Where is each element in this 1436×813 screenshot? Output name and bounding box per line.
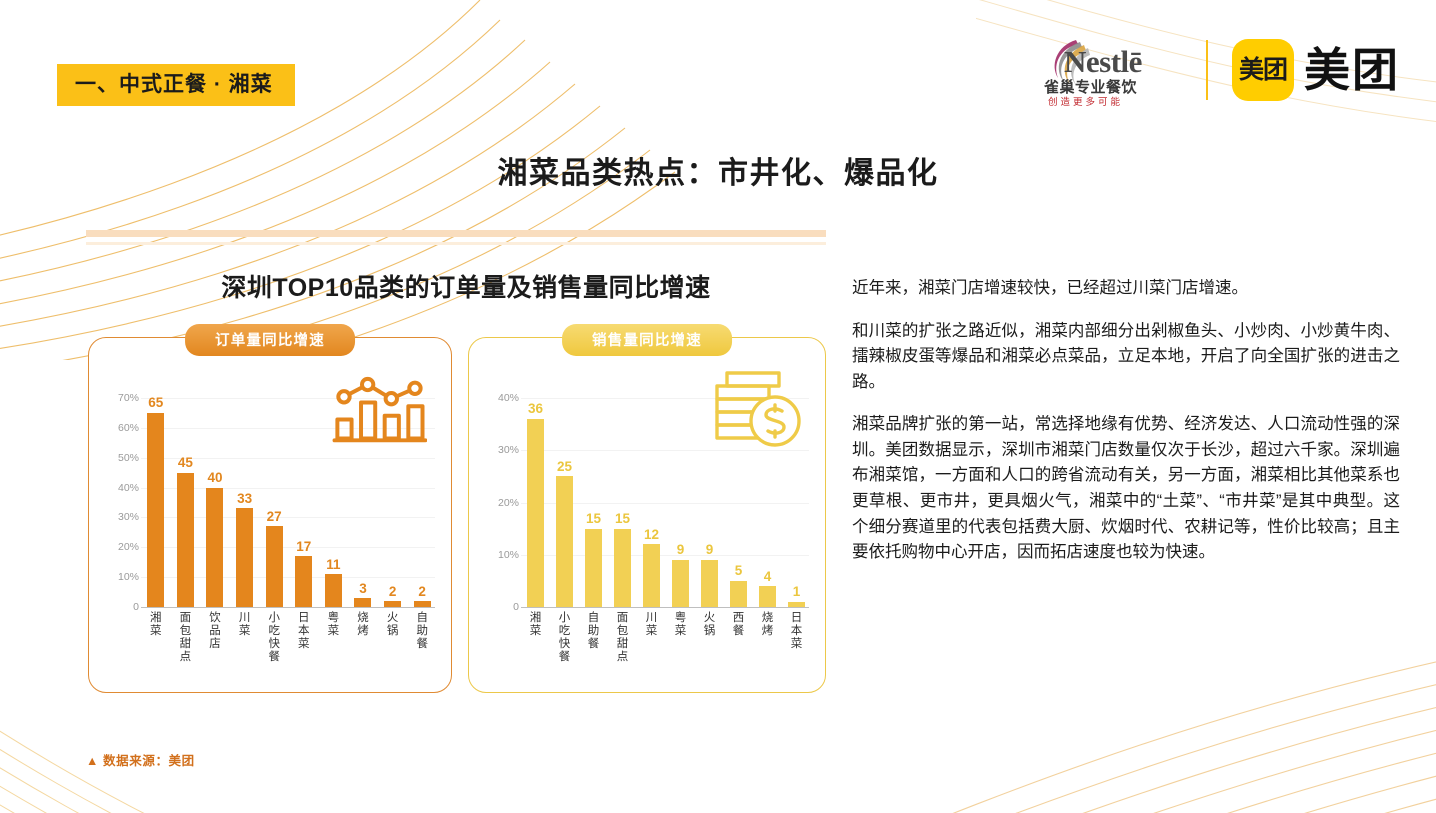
source-note: ▲ 数据来源：美团	[86, 750, 195, 769]
bar-rect	[354, 598, 371, 607]
y-axis-tick-label: 20%	[498, 497, 519, 509]
bar-column: 40饮品店	[200, 471, 230, 607]
bar-column: 65湘菜	[141, 396, 171, 607]
bar-value-label: 9	[677, 543, 685, 557]
bar-column: 33川菜	[230, 492, 260, 607]
x-axis-category-label: 自助餐	[415, 612, 430, 651]
x-axis-category-label: 小吃快餐	[557, 612, 572, 664]
bar-column: 3烧烤	[348, 582, 378, 607]
bar-column: 4烧烤	[753, 570, 782, 607]
bar-value-label: 9	[706, 543, 714, 557]
slide-root: 一、中式正餐 · 湘菜 Nestlē 雀巢专业餐饮 创造更多可能 美团 美团 湘…	[0, 0, 1436, 813]
bar-column: 27小吃快餐	[259, 510, 289, 607]
bar-value-label: 15	[586, 512, 601, 526]
bar-value-label: 65	[148, 396, 163, 410]
page-title: 湘菜品类热点：市井化、爆品化	[0, 148, 1436, 192]
x-axis-category-label: 自助餐	[586, 612, 601, 651]
bar-rect	[614, 529, 631, 607]
bar-column: 15自助餐	[579, 512, 608, 607]
logo-divider	[1206, 40, 1208, 100]
bar-rect	[527, 419, 544, 607]
bar-rect	[147, 413, 164, 607]
bar-column: 12川菜	[637, 528, 666, 607]
coins-dollar-icon	[713, 368, 805, 450]
bar-rect	[266, 526, 283, 607]
x-axis-category-label: 川菜	[237, 612, 252, 638]
bar-value-label: 25	[557, 460, 572, 474]
bar-value-label: 40	[207, 471, 222, 485]
nestle-slogan: 创造更多可能	[1048, 94, 1123, 108]
rule-thin	[86, 242, 826, 245]
bar-rect	[759, 586, 776, 607]
bar-rect	[730, 581, 747, 607]
body-text-column: 近年来，湘菜门店增速较快，已经超过川菜门店增速。 和川菜的扩张之路近似，湘菜内部…	[852, 276, 1400, 566]
bar-column: 25小吃快餐	[550, 460, 579, 607]
paragraph-3: 湘菜品牌扩张的第一站，常选择地缘有优势、经济发达、人口流动性强的深圳。美团数据显…	[852, 412, 1400, 565]
meituan-badge: 美团	[1232, 39, 1294, 101]
y-axis-tick-label: 50%	[118, 452, 139, 464]
y-axis-tick-label: 40%	[118, 482, 139, 494]
bar-value-label: 27	[267, 510, 282, 524]
x-axis-category-label: 日本菜	[789, 612, 804, 651]
bar-value-label: 12	[644, 528, 659, 542]
bar-rect	[701, 560, 718, 607]
bar-value-label: 45	[178, 456, 193, 470]
bar-value-label: 11	[326, 558, 340, 572]
x-axis-category-label: 粤菜	[326, 612, 341, 638]
rule-thick	[86, 230, 826, 237]
meituan-wordmark: 美团	[1304, 47, 1400, 93]
y-axis-tick-label: 20%	[118, 541, 139, 553]
bar-rect	[236, 508, 253, 607]
bar-column: 17日本菜	[289, 540, 319, 607]
x-axis-category-label: 面包甜点	[615, 612, 630, 664]
x-axis-category-label: 川菜	[644, 612, 659, 638]
paragraph-1: 近年来，湘菜门店增速较快，已经超过川菜门店增速。	[852, 276, 1400, 302]
bar-rect	[788, 602, 805, 607]
bar-value-label: 2	[389, 585, 397, 599]
bar-rect	[585, 529, 602, 607]
bar-rect	[556, 476, 573, 607]
y-axis-tick-label: 0	[513, 601, 519, 613]
logo-group: Nestlē 雀巢专业餐饮 创造更多可能 美团 美团	[1042, 32, 1400, 108]
bar-column: 9粤菜	[666, 543, 695, 607]
bar-rect	[643, 544, 660, 607]
bar-column: 36湘菜	[521, 402, 550, 607]
bar-value-label: 36	[528, 402, 543, 416]
x-axis-category-label: 湘菜	[148, 612, 163, 638]
bar-column: 45面包甜点	[171, 456, 201, 607]
bar-rect	[672, 560, 689, 607]
bar-rect	[206, 488, 223, 607]
chart-title-sales: 销售量同比增速	[562, 324, 732, 356]
bar-value-label: 17	[296, 540, 311, 554]
chart-card-sales: 销售量同比增速 010%20%30%40%36湘菜25小吃快餐15自助餐15面包…	[468, 337, 826, 693]
bar-column: 9火锅	[695, 543, 724, 607]
y-axis-tick-label: 10%	[118, 571, 139, 583]
chart-title-orders: 订单量同比增速	[185, 324, 355, 356]
bar-value-label: 5	[735, 564, 743, 578]
bar-value-label: 2	[418, 585, 426, 599]
bar-rect	[177, 473, 194, 607]
bar-rect	[325, 574, 342, 607]
decorative-swoosh-bottom-right	[776, 573, 1436, 813]
nestle-logo: Nestlē 雀巢专业餐饮 创造更多可能	[1042, 32, 1182, 108]
x-axis-category-label: 火锅	[385, 612, 400, 638]
y-axis-tick-label: 40%	[498, 392, 519, 404]
y-axis-tick-label: 30%	[118, 511, 139, 523]
meituan-logo: 美团 美团	[1232, 39, 1400, 101]
meituan-badge-label: 美团	[1239, 58, 1287, 83]
x-axis-category-label: 湘菜	[528, 612, 543, 638]
bar-value-label: 33	[237, 492, 252, 506]
bar-value-label: 4	[764, 570, 772, 584]
bar-value-label: 3	[359, 582, 367, 596]
x-axis-category-label: 面包甜点	[178, 612, 193, 664]
header-rules	[86, 230, 826, 245]
x-axis-category-label: 粤菜	[673, 612, 688, 638]
bar-column: 2火锅	[378, 585, 408, 607]
bar-rect	[384, 601, 401, 607]
bar-line-chart-icon	[331, 376, 427, 446]
x-axis-baseline	[141, 607, 435, 608]
x-axis-category-label: 西餐	[731, 612, 746, 638]
x-axis-category-label: 小吃快餐	[267, 612, 282, 664]
bar-rect	[295, 556, 312, 607]
section-tag: 一、中式正餐 · 湘菜	[57, 64, 295, 106]
y-axis-tick-label: 60%	[118, 422, 139, 434]
y-axis-tick-label: 70%	[118, 392, 139, 404]
bar-column: 11粤菜	[319, 558, 349, 607]
bar-column: 1日本菜	[782, 585, 811, 607]
x-axis-category-label: 日本菜	[296, 612, 311, 651]
nestle-wordmark: Nestlē	[1064, 44, 1142, 80]
x-axis-category-label: 烧烤	[355, 612, 370, 638]
y-axis-tick-label: 0	[133, 601, 139, 613]
y-axis-tick-label: 30%	[498, 444, 519, 456]
y-axis-tick-label: 10%	[498, 549, 519, 561]
paragraph-2: 和川菜的扩张之路近似，湘菜内部细分出剁椒鱼头、小炒肉、小炒黄牛肉、擂辣椒皮蛋等爆…	[852, 319, 1400, 396]
bar-column: 2自助餐	[407, 585, 437, 607]
charts-block-title: 深圳TOP10品类的订单量及销售量同比增速	[86, 268, 846, 304]
x-axis-category-label: 烧烤	[760, 612, 775, 638]
bar-value-label: 1	[793, 585, 801, 599]
x-axis-category-label: 火锅	[702, 612, 717, 638]
x-axis-baseline	[521, 607, 809, 608]
bar-rect	[414, 601, 431, 607]
bar-column: 5西餐	[724, 564, 753, 607]
bar-value-label: 15	[615, 512, 630, 526]
bar-column: 15面包甜点	[608, 512, 637, 607]
x-axis-category-label: 饮品店	[207, 612, 222, 651]
chart-card-orders: 订单量同比增速 010%20%30%40%50%60%70%65湘菜45面包甜点…	[88, 337, 452, 693]
